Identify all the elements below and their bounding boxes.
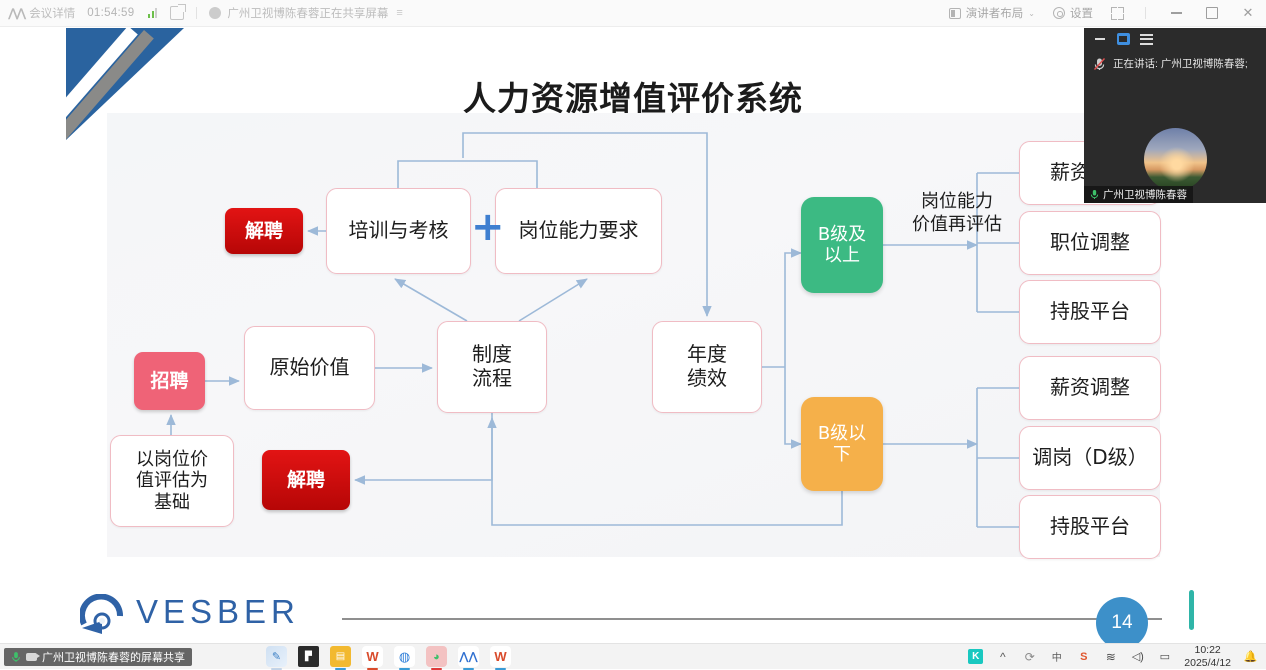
taskbar-app-wechat[interactable]: ◕: [426, 646, 447, 667]
node-peixun-kaohe: 培训与考核: [326, 188, 471, 274]
popout-window-icon[interactable]: [170, 6, 184, 20]
minimize-icon: [1171, 12, 1182, 13]
taskbar-app-icons: ✎ ▛ ▤ W ◍ ◕ ⋀⋀ W: [266, 646, 511, 667]
node-jiepin-top: 解聘: [225, 208, 303, 254]
vesber-emblem-icon: [80, 594, 126, 638]
share-avatar-icon: [209, 7, 221, 19]
slide-footer: VESBER 14: [66, 590, 1200, 643]
wechat-icon: ◕: [433, 651, 440, 663]
footer-rule: [342, 618, 1162, 620]
video-overlay-panel[interactable]: 正在讲话: 广州卫视博陈春蓉; 广州卫视博陈春蓉: [1084, 28, 1266, 203]
overlay-minimize-button[interactable]: [1093, 32, 1107, 46]
node-niandu-jixiao: 年度 绩效: [652, 321, 762, 413]
taskbar-app-folder[interactable]: ▤: [330, 646, 351, 667]
layout-icon: [949, 8, 961, 19]
label-reevaluation: 岗位能力 价值再评估: [883, 191, 1031, 236]
tray-battery-icon[interactable]: ▭: [1157, 649, 1172, 664]
restore-icon: [1117, 33, 1130, 45]
tray-kingsoft-icon[interactable]: K: [968, 649, 983, 664]
gear-icon: [1053, 7, 1065, 19]
mic-icon: [1090, 189, 1099, 200]
taskbar-clock[interactable]: 10:22 2025/4/12: [1184, 644, 1231, 669]
node-equity-platform-low: 持股平台: [1019, 495, 1161, 559]
more-horizontal-icon[interactable]: ≡: [396, 7, 403, 19]
wps-pdf-icon: W: [494, 649, 506, 664]
shared-slide: 人力资源增值评价系统: [66, 28, 1200, 643]
overlay-restore-button[interactable]: [1116, 32, 1130, 46]
node-gangwei-jichu: 以岗位价 值评估为 基础: [110, 435, 234, 527]
fullscreen-icon: [1111, 7, 1124, 20]
notification-bell-icon[interactable]: 🔔: [1243, 649, 1258, 664]
tray-chevron-up-icon[interactable]: ^: [995, 649, 1010, 664]
node-equity-platform-top: 持股平台: [1019, 280, 1161, 344]
screen-share-taskbar-chip[interactable]: 广州卫视博陈春蓉的屏幕共享: [4, 648, 192, 666]
diagram-canvas: 解聘 培训与考核 岗位能力要求 + 招聘 原始价值 制度 流程 以岗位价 值评估…: [107, 113, 1160, 557]
participant-name: 广州卫视博陈春蓉: [1103, 187, 1187, 202]
window-maximize-button[interactable]: [1194, 0, 1230, 27]
node-zhidu-liucheng: 制度 流程: [437, 321, 547, 413]
node-b-grade-below: B级以 下: [801, 397, 883, 491]
meeting-timer: 01:54:59: [87, 0, 134, 27]
paint-icon: ✎: [272, 650, 281, 663]
share-status-label: 广州卫视博陈春蓉正在共享屏幕: [227, 0, 388, 27]
clock-time: 10:22: [1195, 644, 1221, 656]
mic-muted-icon: [1093, 57, 1106, 71]
page-number-badge: 14: [1096, 597, 1148, 643]
taskbar-app-paint[interactable]: ✎: [266, 646, 287, 667]
camera-icon: [26, 653, 37, 661]
avatar: [1144, 128, 1207, 191]
taskbar-app-explorer[interactable]: ▛: [298, 646, 319, 667]
system-tray: K ^ ⟳ 中 S ≋ ◁) ▭ 10:22 2025/4/12 🔔: [968, 644, 1266, 669]
window-minimize-button[interactable]: [1158, 0, 1194, 27]
meeting-icon: ⋀⋀: [459, 650, 478, 663]
fullscreen-button[interactable]: [1102, 0, 1133, 27]
node-zhaopin: 招聘: [134, 352, 205, 410]
node-jiepin-low: 解聘: [262, 450, 350, 510]
tray-sync-icon[interactable]: ⟳: [1022, 649, 1037, 664]
left-white-strip: [0, 28, 66, 643]
window-close-button[interactable]: ✕: [1230, 0, 1266, 27]
overlay-list-button[interactable]: [1139, 32, 1153, 46]
folder-icon: ▤: [336, 651, 345, 662]
settings-label: 设置: [1070, 5, 1093, 21]
divider-2: [1145, 7, 1146, 19]
meeting-logo-icon: ⋀⋀: [8, 6, 24, 20]
settings-button[interactable]: 设置: [1044, 0, 1102, 27]
tray-wifi-icon[interactable]: ≋: [1103, 649, 1118, 664]
participant-name-chip: 广州卫视博陈春蓉: [1084, 186, 1193, 203]
taskbar-app-browser[interactable]: ◍: [394, 646, 415, 667]
taskbar-app-wps[interactable]: W: [362, 646, 383, 667]
tray-sogou-icon[interactable]: S: [1076, 649, 1091, 664]
globe-icon: ◍: [399, 649, 410, 665]
scrollbar-thumb[interactable]: [1189, 590, 1194, 630]
clock-date: 2025/4/12: [1184, 657, 1231, 669]
explorer-icon: ▛: [305, 651, 312, 662]
wps-icon: W: [366, 649, 378, 664]
meeting-info-label[interactable]: 会议详情: [29, 0, 75, 27]
taskbar-app-meeting[interactable]: ⋀⋀: [458, 646, 479, 667]
share-chip-label: 广州卫视博陈春蓉的屏幕共享: [42, 649, 185, 665]
signal-bars-icon[interactable]: [148, 8, 157, 18]
layout-label: 演讲者布局: [966, 5, 1024, 21]
topbar-right-controls: 演讲者布局 ⌄ 设置 ✕: [940, 0, 1266, 27]
minimize-icon: [1095, 38, 1105, 40]
taskbar-app-wps-pdf[interactable]: W: [490, 646, 511, 667]
speaking-label: 正在讲话: 广州卫视博陈春蓉;: [1113, 56, 1248, 71]
speaking-status-row: 正在讲话: 广州卫视博陈春蓉;: [1084, 50, 1266, 71]
node-yuanshi-jiazhi: 原始价值: [244, 326, 375, 410]
divider: [196, 7, 197, 19]
layout-button[interactable]: 演讲者布局 ⌄: [940, 0, 1044, 27]
mic-icon: [11, 651, 21, 663]
windows-taskbar: 广州卫视博陈春蓉的屏幕共享 ✎ ▛ ▤ W ◍ ◕ ⋀⋀: [0, 643, 1266, 669]
meeting-top-bar: ⋀⋀ 会议详情 01:54:59 广州卫视博陈春蓉正在共享屏幕 ≡ 演讲者布局 …: [0, 0, 1266, 27]
node-position-adjust: 职位调整: [1019, 211, 1161, 275]
vesber-wordmark: VESBER: [136, 593, 300, 631]
tray-input-method-icon[interactable]: 中: [1049, 649, 1064, 664]
plus-icon: +: [471, 207, 505, 247]
video-overlay-controls: [1084, 28, 1266, 50]
node-transfer-d-grade: 调岗（D级）: [1019, 426, 1161, 490]
participant-list-icon: [1140, 34, 1153, 45]
chevron-down-icon: ⌄: [1028, 9, 1035, 18]
node-salary-adjust-low: 薪资调整: [1019, 356, 1161, 420]
maximize-icon: [1206, 7, 1218, 19]
node-gangwei-nengli: 岗位能力要求: [495, 188, 662, 274]
node-b-grade-above: B级及 以上: [801, 197, 883, 293]
tray-volume-icon[interactable]: ◁): [1130, 649, 1145, 664]
